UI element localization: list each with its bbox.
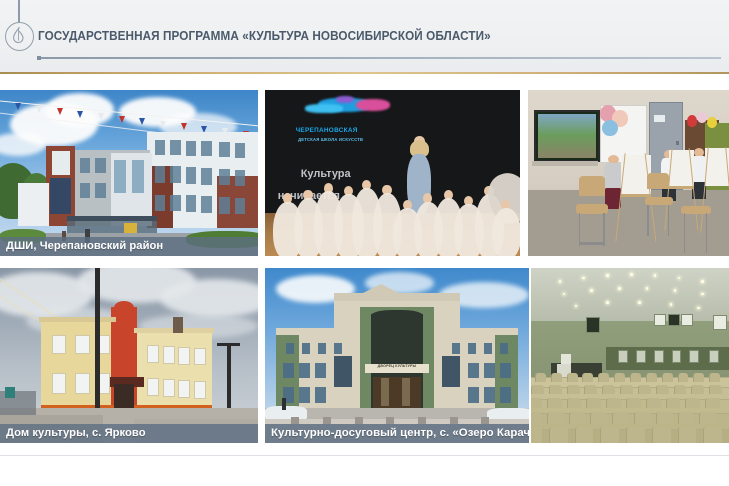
slide-header: ГОСУДАРСТВЕННАЯ ПРОГРАММА «КУЛЬТУРА НОВО… [0,0,729,74]
gallery-caption: ДШИ, Черепановский район [0,237,258,256]
gallery-item-dance-performance[interactable]: ЧЕРЕПАНОВСКАЯ ДЕТСКАЯ ШКОЛА ИСКУССТВ Кул… [265,90,520,256]
photo-art-classroom [528,90,729,256]
gallery-item-kdc-ozero-karachi[interactable]: ДВОРЕЦ КУЛЬТУРЫ [265,268,529,443]
facade-sign: ДВОРЕЦ КУЛЬТУРЫ [365,364,428,373]
photo-dshi-cherepanovsky [0,90,258,256]
page-title: ГОСУДАРСТВЕННАЯ ПРОГРАММА «КУЛЬТУРА НОВО… [38,29,491,43]
classroom-screen [534,110,600,162]
gallery-caption: Культурно-досуговый центр, с. «Озеро Кар… [265,424,529,443]
gallery-item-auditorium-hall[interactable] [531,268,729,443]
gallery-item-dshi-cherepanovsky[interactable]: ДШИ, Черепановский район [0,90,258,256]
logo-stem [18,0,20,23]
school-banner-line1: ЧЕРЕПАНОВСКАЯ [296,127,358,134]
gold-divider [0,72,729,74]
photo-grid: ДШИ, Черепановский район ЧЕРЕПАНОВСКАЯ Д… [0,76,729,444]
slide-footer [0,444,729,486]
photo-kdc-ozero-karachi: ДВОРЕЦ КУЛЬТУРЫ [265,268,529,443]
photo-dance-performance: ЧЕРЕПАНОВСКАЯ ДЕТСКАЯ ШКОЛА ИСКУССТВ Кул… [265,90,520,256]
footer-divider [0,455,729,456]
school-banner-line2: ДЕТСКАЯ ШКОЛА ИСКУССТВ [298,137,363,142]
backdrop-text-line1: Культура [301,168,351,180]
gallery-item-dom-kultury-yarkovo[interactable]: Дом культуры, с. Ярково [0,268,258,443]
gallery-item-art-classroom[interactable] [528,90,729,256]
flame-emblem-logo [5,22,34,51]
header-rule [41,57,721,59]
photo-dom-kultury-yarkovo [0,268,258,443]
gallery-caption: Дом культуры, с. Ярково [0,424,258,443]
photo-auditorium-hall [531,268,729,443]
